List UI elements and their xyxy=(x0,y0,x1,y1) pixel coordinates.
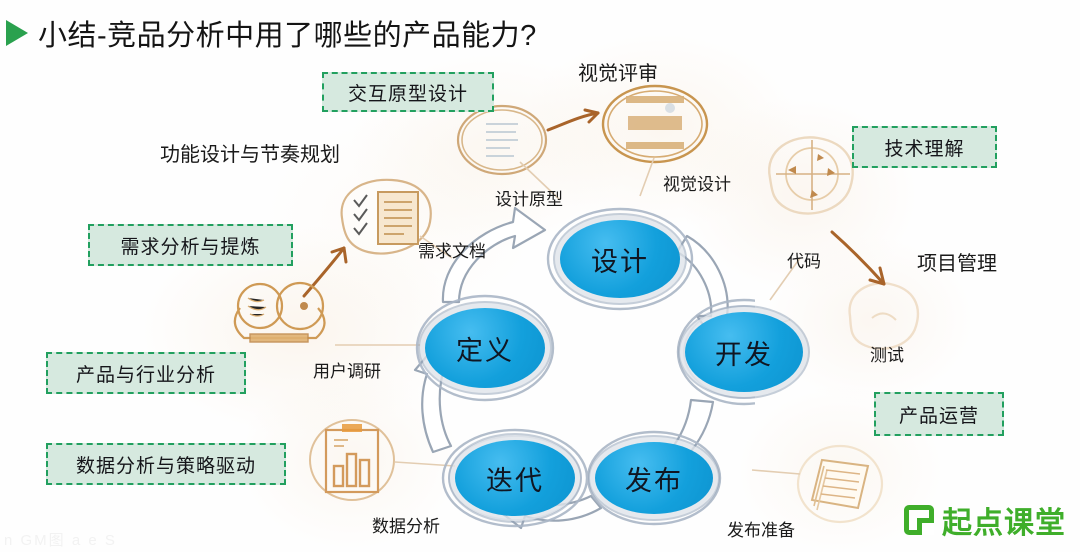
note-user-research: 用户调研 xyxy=(313,357,381,382)
cycle-node-release[interactable]: 发布 xyxy=(595,442,713,514)
note-design-prototype: 设计原型 xyxy=(495,185,563,210)
capability-label: 产品与行业分析 xyxy=(76,360,216,387)
cycle-node-design[interactable]: 设计 xyxy=(560,220,680,298)
capability-label: 产品运营 xyxy=(899,401,979,428)
capability-label: 技术理解 xyxy=(884,134,964,161)
slide-canvas: 小结-竞品分析中用了哪些的产品能力? xyxy=(0,0,1080,552)
cycle-node-define-label: 定义 xyxy=(456,329,514,368)
note-feature-design-rhythm: 功能设计与节奏规划 xyxy=(160,138,340,167)
note-visual-review: 视觉评审 xyxy=(578,57,658,86)
note-release-prep: 发布准备 xyxy=(727,516,795,541)
cycle-node-define[interactable]: 定义 xyxy=(425,308,545,388)
cycle-node-release-label: 发布 xyxy=(625,459,683,498)
capability-box-product-operation[interactable]: 产品运营 xyxy=(874,392,1004,436)
capability-box-requirement-analysis[interactable]: 需求分析与提炼 xyxy=(88,224,293,266)
capability-box-interaction-prototype[interactable]: 交互原型设计 xyxy=(322,72,494,112)
cycle-node-design-label: 设计 xyxy=(591,240,649,279)
capability-box-data-strategy[interactable]: 数据分析与策略驱动 xyxy=(46,443,286,485)
note-code: 代码 xyxy=(787,247,821,272)
cycle-node-iterate[interactable]: 迭代 xyxy=(455,440,575,516)
brand-logo-text: 起点课堂 xyxy=(942,498,1066,542)
capability-box-tech-understanding[interactable]: 技术理解 xyxy=(852,126,997,168)
cycle-node-develop[interactable]: 开发 xyxy=(685,312,803,392)
cycle-node-develop-label: 开发 xyxy=(715,333,773,372)
capability-label: 需求分析与提炼 xyxy=(120,232,260,259)
corner-faint-watermark: n GM图 a e S xyxy=(4,529,117,550)
note-visual-design: 视觉设计 xyxy=(663,170,731,195)
capability-label: 数据分析与策略驱动 xyxy=(76,451,256,478)
brand-logo: 起点课堂 xyxy=(904,498,1066,542)
capability-box-product-industry[interactable]: 产品与行业分析 xyxy=(46,352,246,394)
note-data-analysis: 数据分析 xyxy=(372,512,440,537)
cycle-node-iterate-label: 迭代 xyxy=(486,459,544,498)
note-test: 测试 xyxy=(870,341,904,366)
capability-label: 交互原型设计 xyxy=(348,79,468,106)
note-project-management: 项目管理 xyxy=(917,247,997,276)
note-requirement-doc: 需求文档 xyxy=(418,237,486,262)
q-square-icon xyxy=(904,505,934,535)
